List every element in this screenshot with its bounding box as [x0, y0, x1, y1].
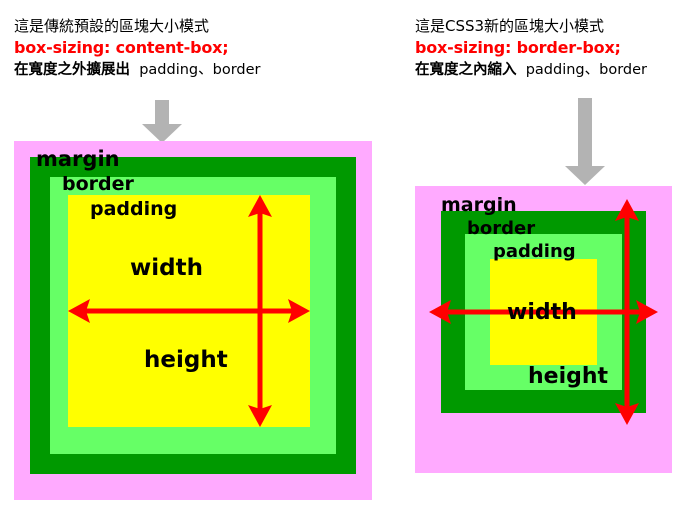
- caption-right-line3: 在寬度之內縮入 padding、border: [415, 60, 647, 81]
- caption-left-line3: 在寬度之外擴展出 padding、border: [14, 60, 261, 81]
- caption-right: 這是CSS3新的區塊大小模式 box-sizing: border-box; 在…: [415, 16, 647, 81]
- box-model-diagram-content-box: margin border padding width height: [14, 141, 372, 500]
- border-box-left: [30, 157, 356, 474]
- label-padding-right: padding: [493, 243, 576, 261]
- caption-right-line3-code: padding、border: [526, 62, 647, 78]
- down-arrow-icon-right: [564, 98, 606, 186]
- label-margin-right: margin: [441, 196, 517, 215]
- label-margin-left: margin: [36, 149, 120, 170]
- caption-left-code: box-sizing: content-box;: [14, 37, 261, 60]
- caption-right-line1: 這是CSS3新的區塊大小模式: [415, 16, 647, 37]
- caption-left: 這是傳統預設的區塊大小模式 box-sizing: content-box; 在…: [14, 16, 261, 81]
- caption-left-line1: 這是傳統預設的區塊大小模式: [14, 16, 261, 37]
- caption-left-line3-code: padding、border: [139, 62, 260, 78]
- label-border-right: border: [467, 220, 535, 238]
- label-border-left: border: [62, 175, 134, 194]
- label-padding-left: padding: [90, 200, 177, 219]
- caption-left-line3-cjk: 在寬度之外擴展出: [14, 62, 130, 78]
- label-width-right: width: [507, 302, 577, 324]
- down-arrow-icon-left: [141, 100, 183, 144]
- caption-right-code: box-sizing: border-box;: [415, 37, 647, 60]
- box-model-diagram-border-box: margin border padding width height: [415, 186, 672, 473]
- label-height-left: height: [144, 349, 228, 372]
- content-box-left: [68, 195, 310, 427]
- label-height-right: height: [528, 366, 608, 388]
- label-width-left: width: [130, 257, 203, 280]
- diagram-canvas: 這是傳統預設的區塊大小模式 box-sizing: content-box; 在…: [0, 0, 700, 514]
- caption-right-line3-cjk: 在寬度之內縮入: [415, 62, 517, 78]
